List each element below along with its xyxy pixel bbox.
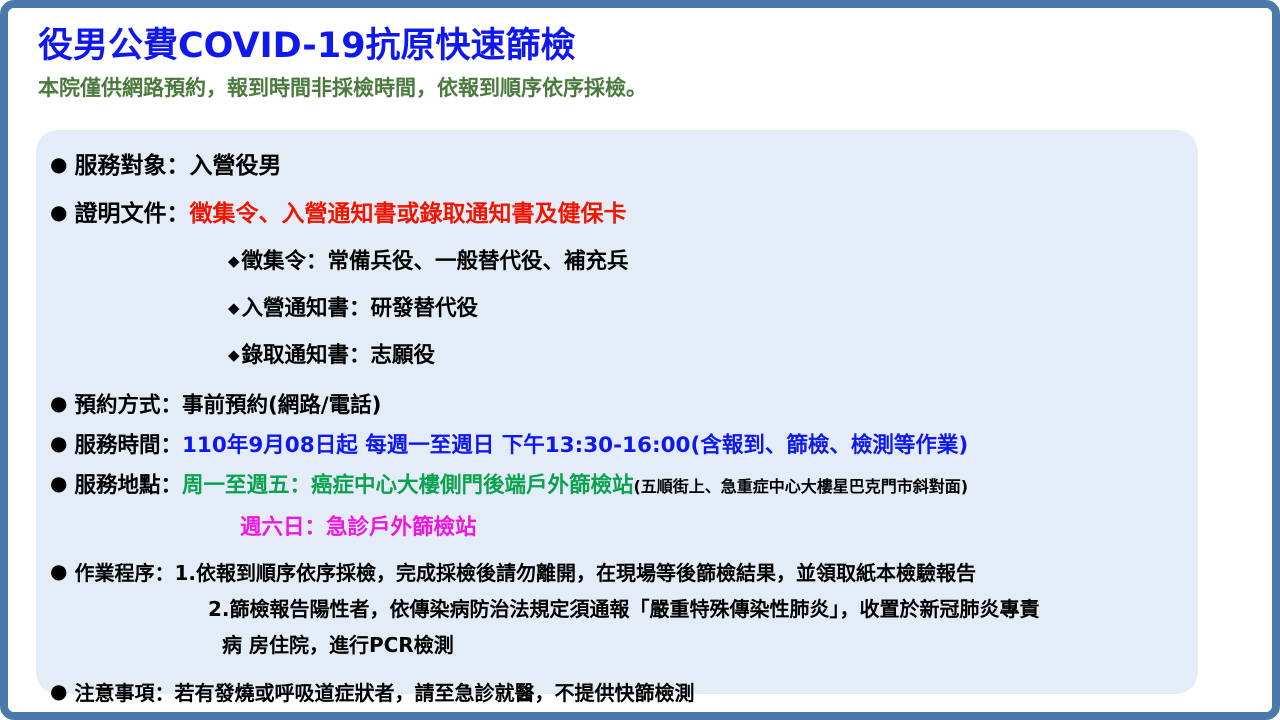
value-booking-method: 事前預約(網路/電話) bbox=[182, 388, 382, 419]
label-service-time: 服務時間： bbox=[74, 428, 182, 459]
row-documents: ● 證明文件： 徵集令、入營通知書或錄取通知書及健保卡 bbox=[50, 194, 1184, 228]
bullet-icon: ● bbox=[50, 561, 67, 581]
bullet-icon: ● bbox=[50, 433, 67, 453]
row-service-target: ● 服務對象： 入營役男 bbox=[50, 146, 1184, 180]
diamond-icon: ◆ bbox=[228, 252, 240, 270]
row-notice: ● 注意事項： 若有發燒或呼吸道症狀者，請至急診就醫，不提供快篩檢測 bbox=[50, 677, 1184, 706]
bullet-icon: ● bbox=[50, 154, 67, 174]
page-title: 役男公費COVID-19抗原快速篩檢 bbox=[38, 26, 1252, 66]
label-service-location: 服務地點： bbox=[74, 468, 182, 499]
documents-sub-item-2-label: 入營通知書：研發替代役 bbox=[242, 291, 479, 322]
value-notice: 若有發燒或呼吸道症狀者，請至急診就醫，不提供快篩檢測 bbox=[174, 677, 694, 706]
value-service-target: 入營役男 bbox=[189, 146, 281, 180]
value-service-time: 110年9月08日起 每週一至週日 下午13:30-16:00(含報到、篩檢、檢… bbox=[182, 428, 968, 459]
row-booking-method: ● 預約方式： 事前預約(網路/電話) bbox=[50, 388, 1184, 419]
procedure-step-2: 2.篩檢報告陽性者，依傳染病防治法規定須通報「嚴重特殊傳染性肺炎」，收置於新冠肺… bbox=[208, 593, 1040, 622]
slide-frame: 役男公費COVID-19抗原快速篩檢 本院僅供網路預約，報到時間非採檢時間，依報… bbox=[0, 0, 1280, 720]
info-panel: ● 服務對象： 入營役男 ● 證明文件： 徵集令、入營通知書或錄取通知書及健保卡… bbox=[36, 130, 1198, 694]
row-service-location-weekend: 週六日：急診戶外篩檢站 bbox=[240, 510, 1184, 541]
documents-sub-item-3-label: 錄取通知書：志願役 bbox=[242, 338, 436, 369]
slide-header: 役男公費COVID-19抗原快速篩檢 本院僅供網路預約，報到時間非採檢時間，依報… bbox=[38, 26, 1252, 101]
row-procedure: ● 作業程序： 1.依報到順序依序採檢，完成採檢後請勿離開，在現場等後篩檢結果，… bbox=[50, 557, 1184, 586]
procedure-step-1: 1.依報到順序依序採檢，完成採檢後請勿離開，在現場等後篩檢結果，並領取紙本檢驗報… bbox=[174, 557, 976, 586]
label-service-target: 服務對象： bbox=[74, 146, 189, 180]
diamond-icon: ◆ bbox=[228, 346, 240, 364]
bullet-icon: ● bbox=[50, 681, 67, 701]
bullet-icon: ● bbox=[50, 473, 67, 493]
bullet-icon: ● bbox=[50, 202, 67, 222]
procedure-step-3-row: 病 房住院，進行PCR檢測 bbox=[222, 629, 1184, 658]
value-documents: 徵集令、入營通知書或錄取通知書及健保卡 bbox=[189, 194, 626, 228]
value-service-location-weekend: 週六日：急診戶外篩檢站 bbox=[240, 510, 477, 541]
note-service-location-weekday: (五順街上、急重症中心大樓星巴克門市斜對面) bbox=[633, 473, 968, 497]
procedure-step-3: 病 房住院，進行PCR檢測 bbox=[222, 629, 454, 658]
procedure-step-2-row: 2.篩檢報告陽性者，依傳染病防治法規定須通報「嚴重特殊傳染性肺炎」，收置於新冠肺… bbox=[208, 593, 1184, 622]
row-service-time: ● 服務時間： 110年9月08日起 每週一至週日 下午13:30-16:00(… bbox=[50, 428, 1184, 459]
bullet-icon: ● bbox=[50, 393, 67, 413]
page-subtitle: 本院僅供網路預約，報到時間非採檢時間，依報到順序依序採檢。 bbox=[38, 76, 1252, 101]
value-service-location-weekday: 周一至週五：癌症中心大樓側門後端戶外篩檢站 bbox=[182, 468, 634, 499]
label-documents: 證明文件： bbox=[74, 194, 189, 228]
documents-sub-item-3: ◆ 錄取通知書：志願役 bbox=[228, 338, 1184, 369]
diamond-icon: ◆ bbox=[228, 299, 240, 317]
label-notice: 注意事項： bbox=[74, 677, 174, 706]
documents-sub-item-1: ◆ 徵集令：常備兵役、一般替代役、補充兵 bbox=[228, 244, 1184, 275]
documents-sub-item-2: ◆ 入營通知書：研發替代役 bbox=[228, 291, 1184, 322]
row-service-location: ● 服務地點： 周一至週五：癌症中心大樓側門後端戶外篩檢站 (五順街上、急重症中… bbox=[50, 468, 1184, 499]
label-booking-method: 預約方式： bbox=[74, 388, 182, 419]
label-procedure: 作業程序： bbox=[74, 557, 174, 586]
documents-sub-item-1-label: 徵集令：常備兵役、一般替代役、補充兵 bbox=[242, 244, 629, 275]
